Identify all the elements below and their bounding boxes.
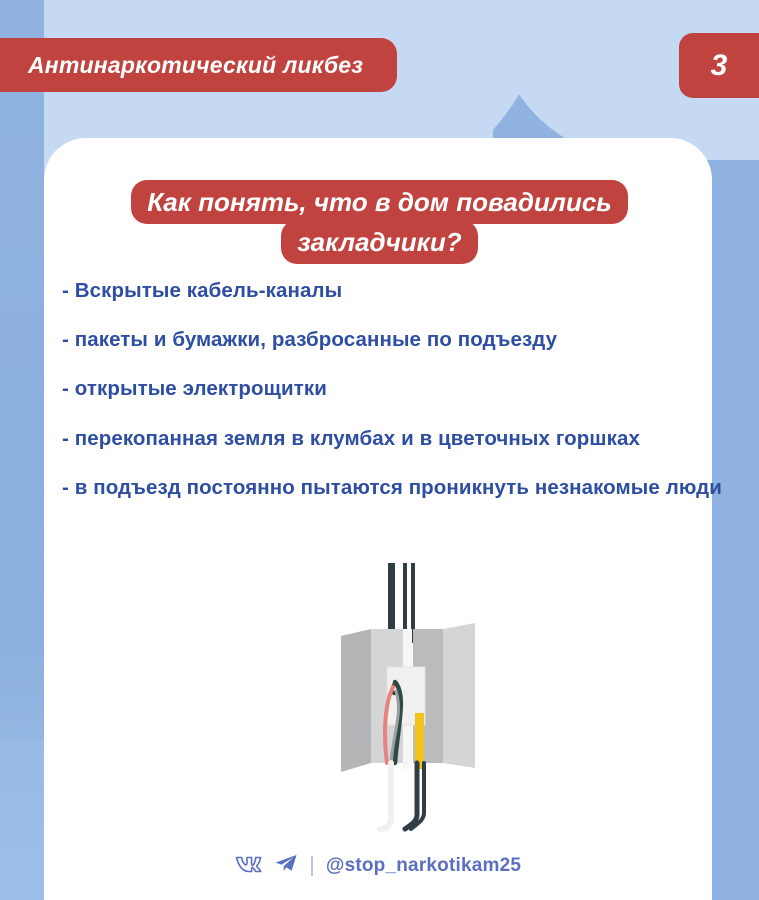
content-card: Как понять, что в дом повадились закладч… <box>44 138 712 900</box>
header-title-pill: Антинаркотический ликбез <box>0 38 397 92</box>
social-handle[interactable]: @stop_narkotikam25 <box>326 855 521 877</box>
footer-divider <box>311 856 313 876</box>
vk-icon[interactable] <box>235 853 265 878</box>
list-item: - пакеты и бумажки, разбросанные по подъ… <box>62 327 734 353</box>
list-item: - открытые электрощитки <box>62 376 734 402</box>
page-number-text: 3 <box>711 49 728 83</box>
page-number-badge: 3 <box>679 33 759 98</box>
poster-canvas: Антинаркотический ликбез 3 Как понять, ч… <box>0 0 759 900</box>
list-item: - Вскрытые кабель-каналы <box>62 278 734 304</box>
card-title-line-1: Как понять, что в дом повадились <box>131 180 628 224</box>
header-title-text: Антинаркотический ликбез <box>28 52 363 79</box>
card-title-line-2: закладчики? <box>281 220 477 264</box>
social-footer: @stop_narkotikam25 <box>44 853 712 878</box>
card-title: Как понять, что в дом повадились закладч… <box>67 183 692 262</box>
telegram-icon[interactable] <box>274 853 298 878</box>
cable-channel-illustration <box>325 563 495 853</box>
list-item: - перекопанная земля в клумбах и в цвето… <box>62 426 734 452</box>
background-left-strip <box>0 0 44 900</box>
bullet-list: - Вскрытые кабель-каналы - пакеты и бума… <box>62 278 734 524</box>
list-item: - в подъезд постоянно пытаются проникнут… <box>62 475 734 501</box>
